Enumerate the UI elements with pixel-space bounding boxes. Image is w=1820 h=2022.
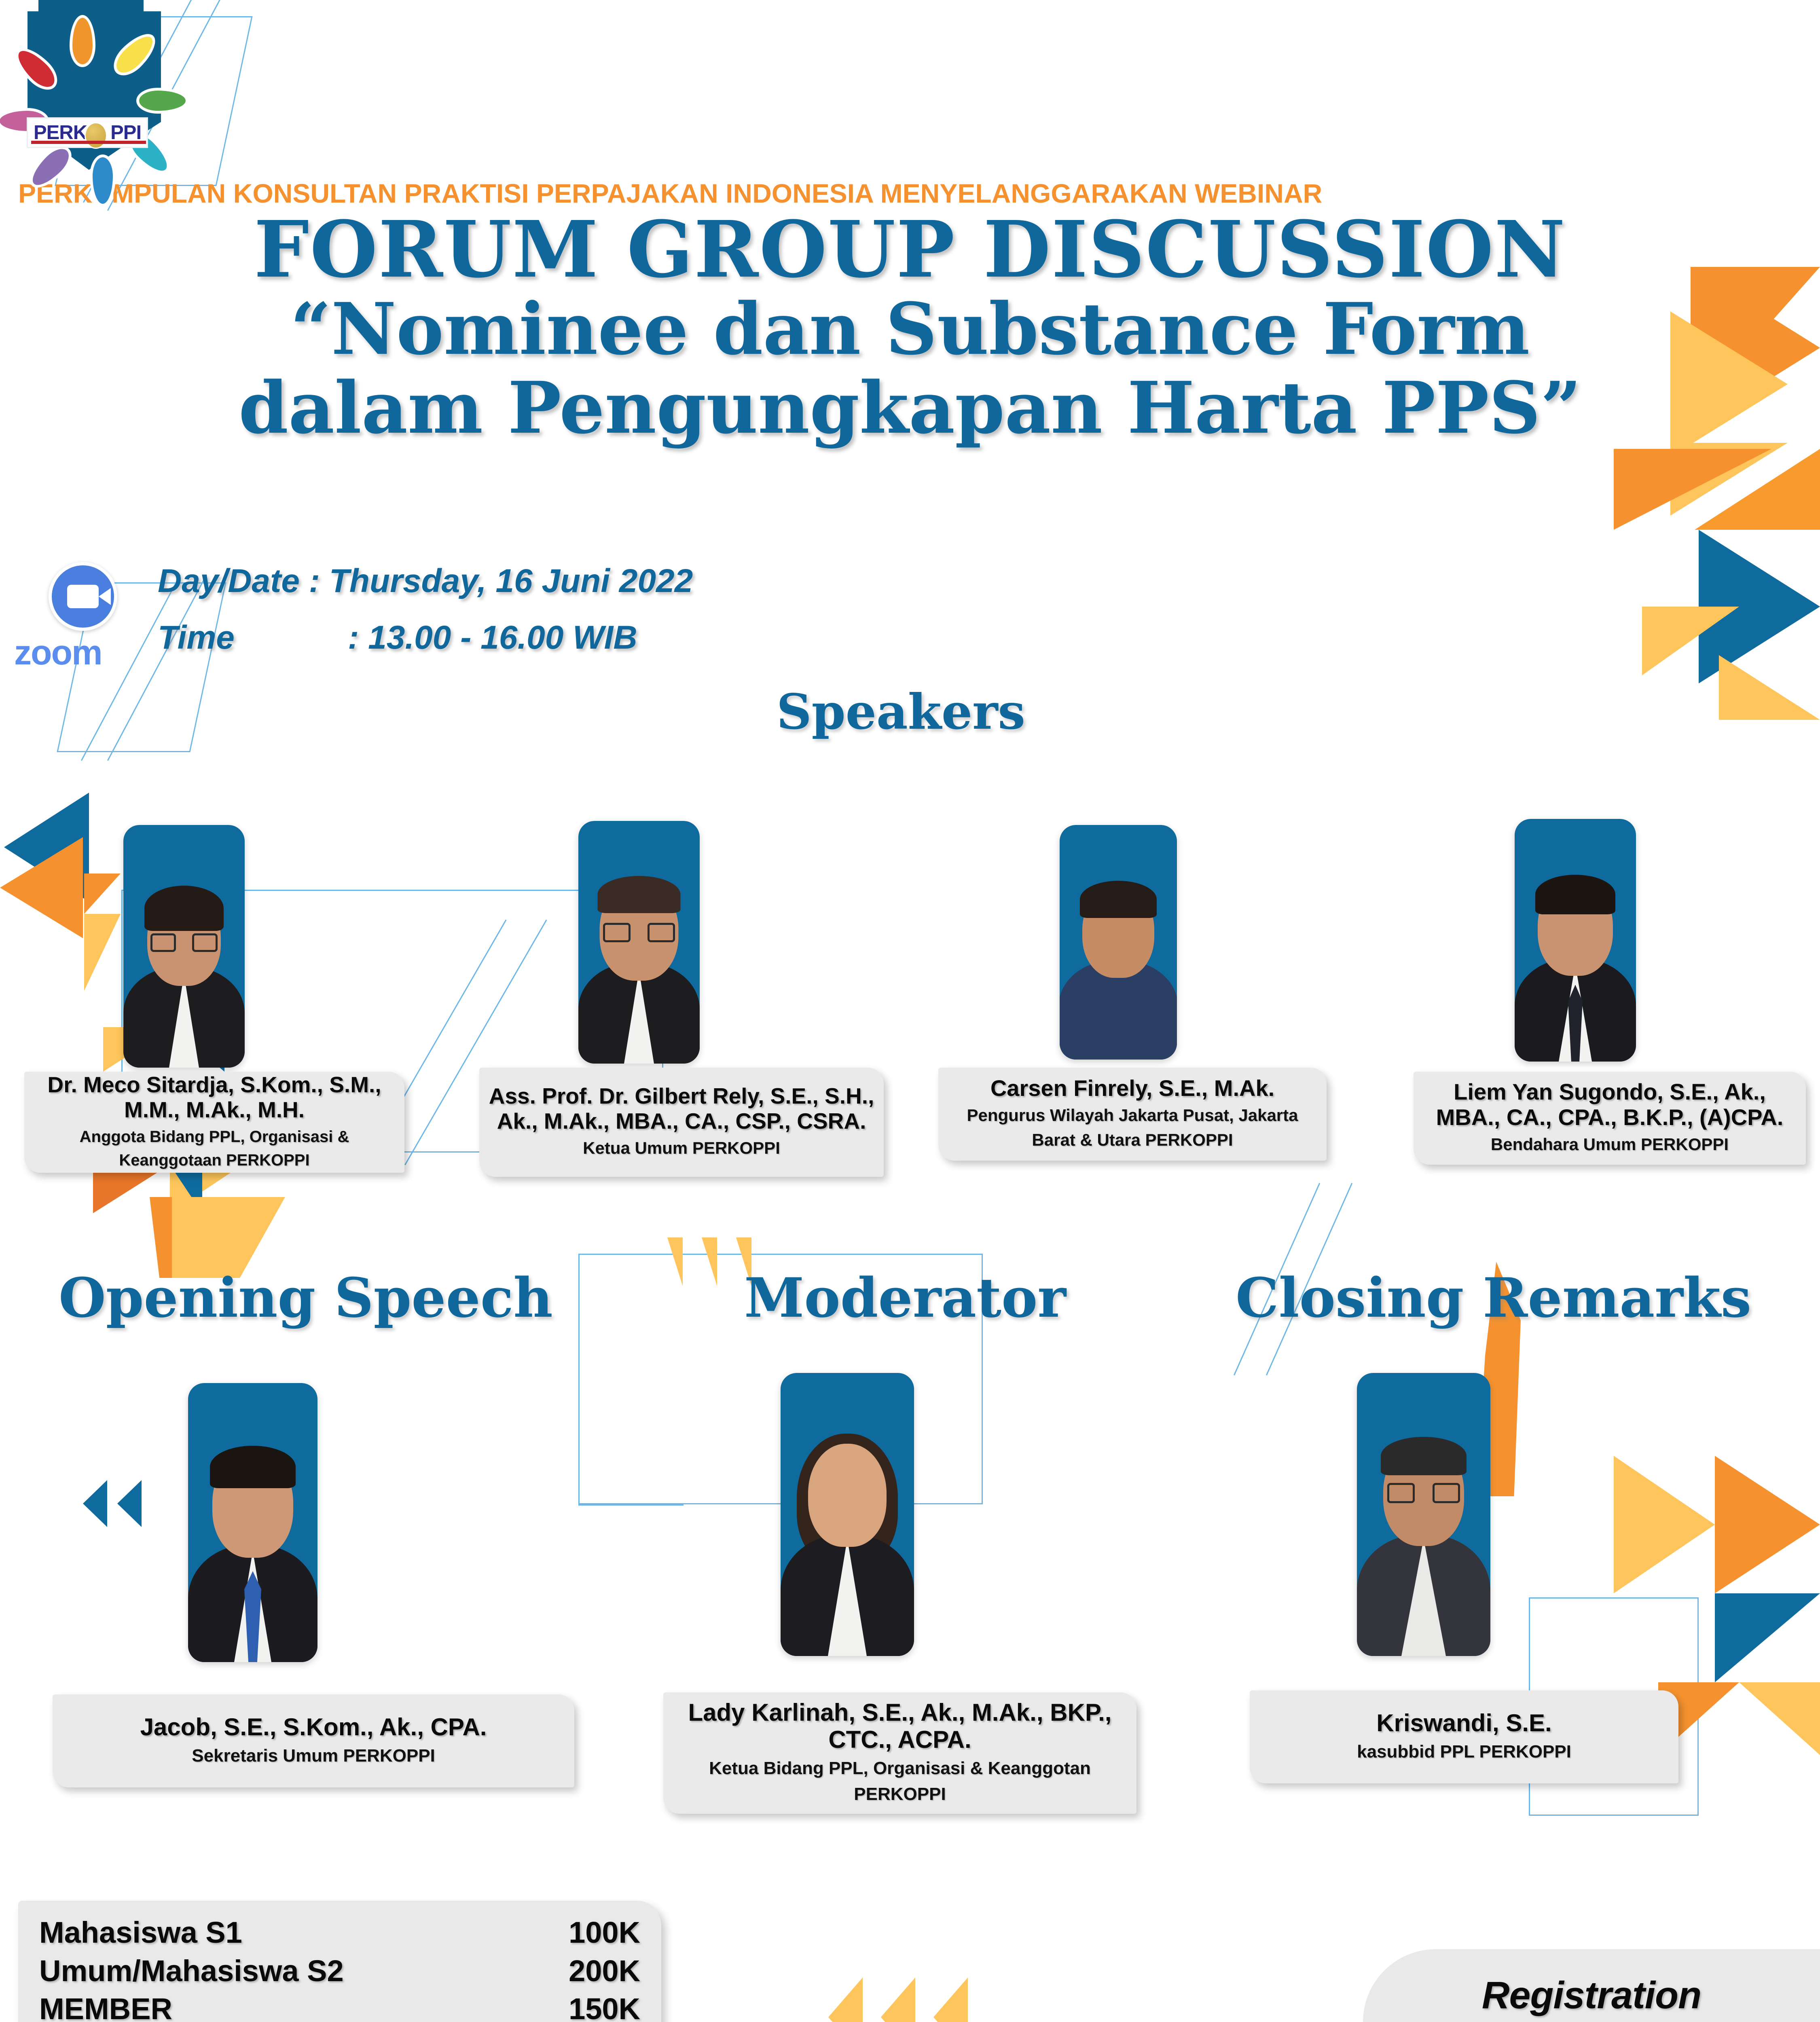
speaker-card-1: Dr. Meco Sitardja, S.Kom., S.M., M.M., M… xyxy=(24,1072,404,1173)
speaker-role: Pengurus Wilayah Jakarta Pusat, Jakarta … xyxy=(944,1103,1321,1153)
price-label: Mahasiswa S1 xyxy=(39,1914,242,1952)
person-name: Kriswandi, S.E. xyxy=(1376,1709,1551,1736)
price-row: MEMBER 150K xyxy=(39,1990,640,2022)
registration-box: Registration www.perkoppi.or.id HOTLINE … xyxy=(1363,1949,1820,2022)
title-block: FORUM GROUP DISCUSSION “Nominee dan Subs… xyxy=(0,210,1820,444)
video-camera-icon xyxy=(49,562,117,631)
avatar-hair xyxy=(598,876,681,913)
outline-arrow-left xyxy=(578,1504,684,1506)
triangle-orange-right-mid xyxy=(1715,1456,1820,1593)
registration-url[interactable]: www.perkoppi.or.id xyxy=(1379,2019,1804,2022)
person-name: Jacob, S.E., S.Kom., Ak., CPA. xyxy=(140,1713,487,1741)
pricing-box: Mahasiswa S1 100K Umum/Mahasiswa S2 200K… xyxy=(18,1901,661,2022)
speaker-card-3: Carsen Finrely, S.E., M.Ak. Pengurus Wil… xyxy=(938,1068,1327,1161)
opening-speech-card: Jacob, S.E., S.Kom., Ak., CPA. Sekretari… xyxy=(53,1694,574,1787)
triangle-amber-left-2 xyxy=(84,914,121,991)
moderator-card: Lady Karlinah, S.E., Ak., M.Ak., BKP., C… xyxy=(663,1692,1136,1814)
triangle-amber-right-4 xyxy=(1719,655,1820,720)
price-label: MEMBER xyxy=(39,1990,172,2022)
triangle-amber-right-2 xyxy=(1670,443,1788,516)
avatar-glasses xyxy=(603,923,675,942)
triangle-amber-right-3 xyxy=(1642,607,1739,675)
price-value: 200K xyxy=(511,1952,640,1990)
price-value: 100K xyxy=(511,1914,640,1952)
person-name: Lady Karlinah, S.E., Ak., M.Ak., BKP., C… xyxy=(669,1699,1131,1753)
triangle-amber-right-mid xyxy=(1614,1456,1715,1593)
speaker-card-2: Ass. Prof. Dr. Gilbert Rely, S.E., S.H.,… xyxy=(479,1068,884,1177)
triangle-orange-right-4 xyxy=(1614,449,1771,530)
price-value: 150K xyxy=(511,1990,640,2022)
avatar-hair xyxy=(1381,1437,1467,1475)
price-row: Mahasiswa S1 100K xyxy=(39,1914,640,1952)
chevron-bottom-3 xyxy=(933,1978,968,2022)
price-label: Umum/Mahasiswa S2 xyxy=(39,1952,344,1990)
registration-title: Registration xyxy=(1379,1973,1804,2018)
avatar-head xyxy=(808,1444,887,1547)
title-line-2: “Nominee dan Substance Form xyxy=(0,293,1820,366)
speaker-photo-3 xyxy=(1060,825,1177,1060)
event-time-value: : 13.00 - 16.00 WIB xyxy=(348,619,637,657)
triangle-orange-left-1 xyxy=(0,837,83,938)
zoom-wordmark: zoom xyxy=(14,633,123,673)
closing-remarks-card: Kriswandi, S.E. kasubbid PPL PERKOPPI xyxy=(1250,1690,1678,1783)
speaker-card-4: Liem Yan Sugondo, S.E., Ak., MBA., CA., … xyxy=(1414,1072,1806,1165)
event-date: Day/Date : Thursday, 16 Juni 2022 xyxy=(158,562,693,600)
speaker-photo-2 xyxy=(578,821,700,1064)
speaker-photo-1 xyxy=(123,825,245,1068)
person-role: Sekretaris Umum PERKOPPI xyxy=(192,1743,435,1769)
triangle-blue-left-1 xyxy=(4,793,89,902)
triangle-amber-right-mid2 xyxy=(1739,1682,1820,1755)
moderator-photo xyxy=(781,1373,914,1656)
triangle-blue-right-1 xyxy=(1699,530,1820,683)
avatar-glasses xyxy=(1387,1483,1460,1503)
speaker-photo-4 xyxy=(1515,819,1636,1062)
chevron-bottom-2 xyxy=(881,1978,915,2022)
speaker-name: Ass. Prof. Dr. Gilbert Rely, S.E., S.H.,… xyxy=(485,1084,878,1134)
event-time-label: Time xyxy=(158,619,235,657)
avatar-hair xyxy=(144,886,224,931)
opening-speech-photo xyxy=(188,1383,317,1662)
speaker-name: Liem Yan Sugondo, S.E., Ak., MBA., CA., … xyxy=(1419,1079,1800,1130)
logo-word-left: PERK xyxy=(34,123,87,143)
avatar-hair xyxy=(210,1446,296,1488)
speaker-role: Ketua Umum PERKOPPI xyxy=(583,1136,780,1161)
triangle-amber-left-1 xyxy=(84,914,121,991)
webinar-poster: PERK PPI PERKUMPULAN KONSULTAN PRAKTISI … xyxy=(0,0,1820,2022)
speaker-role: Bendahara Umum PERKOPPI xyxy=(1491,1132,1729,1157)
section-heading-closing-remarks: Closing Remarks xyxy=(1236,1266,1751,1330)
logo-underline xyxy=(31,141,146,144)
chevron-bottom-1 xyxy=(828,1978,863,2022)
triangle-orange-right-3 xyxy=(1695,449,1820,530)
title-line-3: dalam Pengungkapan Harta PPS” xyxy=(0,372,1820,444)
triangle-blue-right-mid xyxy=(1715,1593,1820,1682)
perkoppi-logo: PERK PPI xyxy=(16,8,166,166)
speaker-name: Dr. Meco Sitardja, S.Kom., S.M., M.M., M… xyxy=(30,1072,399,1122)
price-row: Umum/Mahasiswa S2 200K xyxy=(39,1952,640,1990)
triangle-orange-left-2 xyxy=(84,874,121,914)
title-line-1: FORUM GROUP DISCUSSION xyxy=(0,210,1820,290)
person-role: kasubbid PPL PERKOPPI xyxy=(1357,1739,1571,1765)
person-role: Ketua Bidang PPL, Organisasi & Keanggota… xyxy=(669,1756,1131,1807)
avatar-hair xyxy=(1080,881,1157,918)
logo-word-right: PPI xyxy=(110,123,141,143)
zoom-logo: zoom xyxy=(10,558,131,659)
section-heading-opening-speech: Opening Speech xyxy=(59,1266,553,1330)
logo-wordmark: PERK PPI xyxy=(27,117,148,148)
globe-icon xyxy=(85,122,107,149)
avatar-glasses xyxy=(150,933,218,952)
chevron-blue-left-2 xyxy=(117,1480,142,1527)
chevron-blue-left-1 xyxy=(83,1480,107,1527)
section-heading-moderator: Moderator xyxy=(744,1266,1066,1330)
closing-remarks-photo xyxy=(1357,1373,1490,1656)
section-heading-speakers: Speakers xyxy=(777,683,1025,740)
pinwheel-icon xyxy=(30,14,135,115)
speaker-role: Anggota Bidang PPL, Organisasi & Keanggo… xyxy=(30,1125,399,1172)
avatar-hair xyxy=(1535,875,1615,914)
speaker-name: Carsen Finrely, S.E., M.Ak. xyxy=(990,1076,1274,1101)
